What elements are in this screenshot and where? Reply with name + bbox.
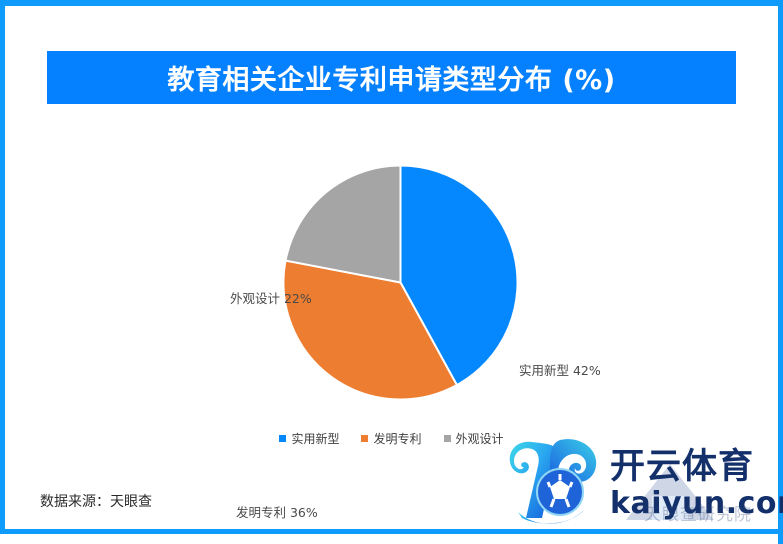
legend-swatch-icon — [444, 435, 451, 442]
page-frame-top — [0, 0, 783, 6]
pie-chart-area: 实用新型 42% 发明专利 36% 外观设计 22% — [0, 120, 783, 420]
legend-item-label: 发明专利 — [373, 430, 421, 447]
legend-item-label: 外观设计 — [456, 430, 504, 447]
chart-page: 教育相关企业专利申请类型分布 (%) 实用新型 42% 发明专利 36% 外观设… — [0, 0, 783, 544]
legend-item-label: 实用新型 — [291, 430, 339, 447]
chart-title: 教育相关企业专利申请类型分布 (%) — [167, 58, 615, 97]
brand-name: 开云体育 — [610, 438, 754, 489]
chart-title-banner: 教育相关企业专利申请类型分布 (%) — [47, 51, 736, 104]
kaiyun-football-k-logo-icon — [498, 432, 602, 528]
legend-swatch-icon — [361, 435, 368, 442]
legend-swatch-icon — [279, 435, 286, 442]
pie-slice-label-waiguan: 外观设计 22% — [230, 288, 312, 307]
legend-item[interactable]: 发明专利 — [361, 430, 421, 447]
legend-item[interactable]: 外观设计 — [444, 430, 504, 447]
source-watermark: 天眼查研究院 — [644, 500, 752, 525]
data-source-note: 数据来源：天眼查 — [40, 491, 152, 511]
legend-item[interactable]: 实用新型 — [279, 430, 339, 447]
pie-chart — [283, 165, 518, 400]
pie-slice-label-shiyong: 实用新型 42% — [519, 360, 601, 379]
brand-logo-block: 开云体育 kaiyun.com 天眼查研究院 — [498, 432, 776, 530]
pie-chart-svg — [283, 165, 518, 400]
pie-slice-label-faming: 发明专利 36% — [236, 502, 318, 521]
